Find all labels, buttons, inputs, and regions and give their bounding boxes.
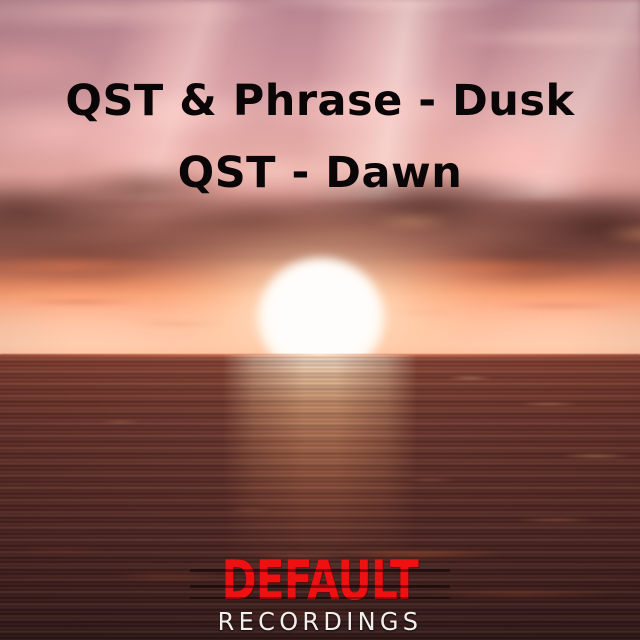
label-wordmark-wrap: DEFAULT	[194, 556, 446, 606]
label-subtitle: RECORDINGS	[13, 608, 627, 635]
title-line-1: QST & Phrase - Dusk	[0, 76, 640, 126]
label-logo: DEFAULT RECORDINGS	[0, 556, 640, 635]
title-block: QST & Phrase - Dusk QST - Dawn	[0, 0, 640, 230]
album-cover: QST & Phrase - Dusk QST - Dawn DEFAULT R…	[0, 0, 640, 640]
label-wordmark: DEFAULT	[222, 556, 418, 606]
title-line-2: QST - Dawn	[0, 148, 640, 198]
